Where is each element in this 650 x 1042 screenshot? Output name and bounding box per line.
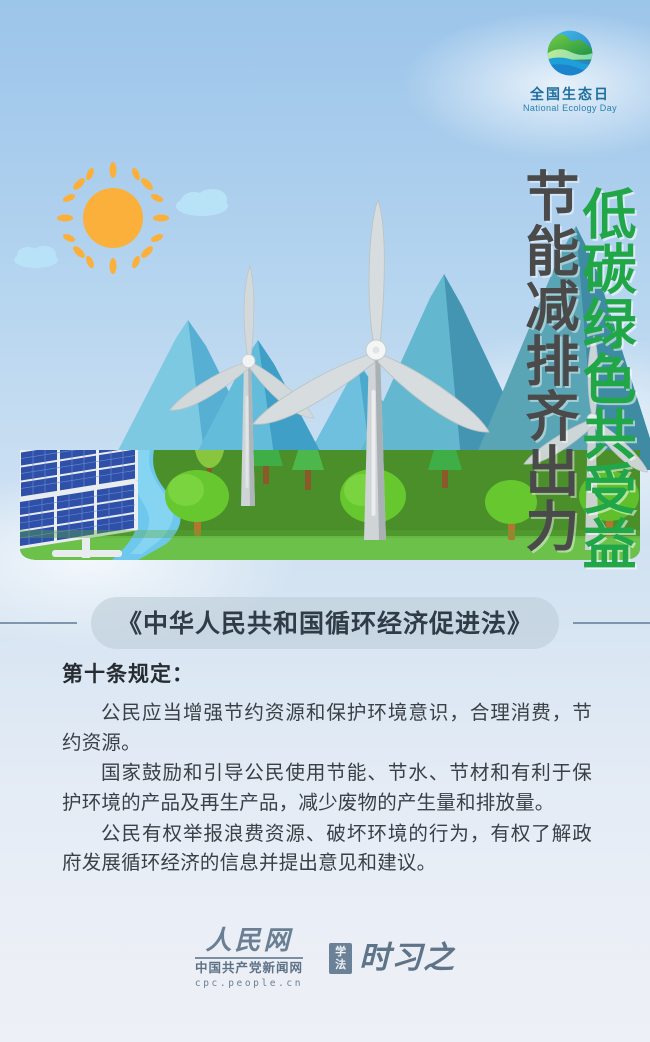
sun-icon <box>57 162 169 274</box>
xuefa-badge: 学 法 <box>329 943 352 975</box>
headline-gray-column: 节能减排齐出力 <box>520 168 575 553</box>
article-body: 第十条规定： 公民应当增强节约资源和保护环境意识，合理消费，节约资源。 国家鼓励… <box>62 658 592 879</box>
headline-green-column: 低碳绿色共受益 <box>577 186 632 571</box>
emblem-title-cn: 全国生态日 <box>500 87 640 102</box>
people-cn-logo[interactable]: 人民网 中国共产党新闻网 cpc.people.cn <box>195 928 303 989</box>
article-heading: 第十条规定： <box>62 658 592 688</box>
ecology-day-emblem: 全国生态日 National Ecology Day <box>500 22 640 115</box>
xuefa-shixizhi-logo[interactable]: 学 法 时习之 <box>329 943 455 975</box>
people-cn-subtitle: 中国共产党新闻网 <box>195 961 303 976</box>
ecology-day-emblem-icon <box>539 22 601 84</box>
xuefa-badge-line2: 法 <box>332 959 349 972</box>
divider-rule-right-icon <box>573 622 650 624</box>
people-cn-divider <box>195 957 303 959</box>
shixizhi-wordmark: 时习之 <box>359 943 455 974</box>
people-cn-wordmark: 人民网 <box>195 928 303 954</box>
law-title: 《中华人民共和国循环经济促进法》 <box>91 597 559 649</box>
divider-rule-left-icon <box>0 622 77 624</box>
article-paragraph: 国家鼓励和引导公民使用节能、节水、节材和有利于保护环境的产品及再生产品，减少废物… <box>62 758 592 817</box>
poster-root: 全国生态日 National Ecology Day <box>0 0 650 1042</box>
footer-logos: 人民网 中国共产党新闻网 cpc.people.cn 学 法 时习之 <box>0 928 650 989</box>
law-title-band: 《中华人民共和国循环经济促进法》 <box>0 598 650 648</box>
article-paragraph: 公民有权举报浪费资源、破坏环境的行为，有权了解政府发展循环经济的信息并提出意见和… <box>62 819 592 878</box>
article-paragraph: 公民应当增强节约资源和保护环境意识，合理消费，节约资源。 <box>62 698 592 757</box>
xuefa-badge-line1: 学 <box>332 946 349 959</box>
emblem-title-en: National Ecology Day <box>500 102 640 115</box>
people-cn-url: cpc.people.cn <box>195 978 303 989</box>
poster-headline: 节能减排齐出力 低碳绿色共受益 <box>520 168 632 571</box>
